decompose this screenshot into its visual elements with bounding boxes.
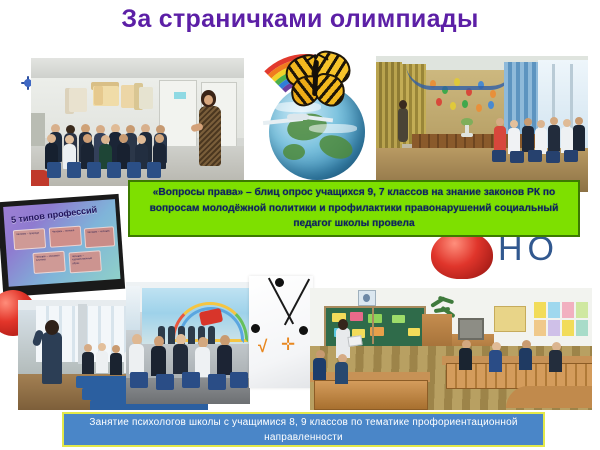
photo-classroom-students-teacher: [31, 58, 244, 186]
butterfly-icon: [283, 50, 355, 112]
photo-projector-screen-professions: 5 типов профессий Человек – природа Чело…: [0, 194, 125, 297]
green-caption-text: «Вопросы права» – блиц опрос учащихся 9,…: [130, 185, 578, 232]
geometry-diagram-graphic: √ ✛: [249, 276, 313, 388]
projected-box-label: Человек – техника: [50, 227, 80, 236]
presentation-slide: За страничками олимпиады: [0, 0, 600, 450]
decoration-group: [243, 50, 371, 200]
page-title: За страничками олимпиады: [0, 4, 600, 34]
projected-box-label: Человек – природа: [14, 229, 44, 238]
red-sphere-shape: [431, 231, 493, 279]
overlay-letters: НО: [498, 232, 559, 266]
green-caption-box: «Вопросы права» – блиц опрос учащихся 9,…: [128, 180, 580, 237]
photo-assembly-hall-event: [376, 56, 588, 192]
airplane-icon: [263, 110, 337, 136]
projected-box-label: Человек – знаковая система: [34, 252, 65, 265]
projected-box-label: Человек – художественный образ: [70, 251, 101, 267]
projected-box-label: Человек – человек: [85, 227, 113, 236]
photo-classroom-chalkboard: [310, 288, 592, 410]
blue-caption-text: Занятие психологов школы с учащимися 8, …: [64, 415, 543, 445]
projected-slide-heading: 5 типов профессий: [10, 203, 111, 228]
blue-caption-box: Занятие психологов школы с учащимися 8, …: [62, 412, 545, 447]
photo-students-mural: [126, 282, 250, 404]
